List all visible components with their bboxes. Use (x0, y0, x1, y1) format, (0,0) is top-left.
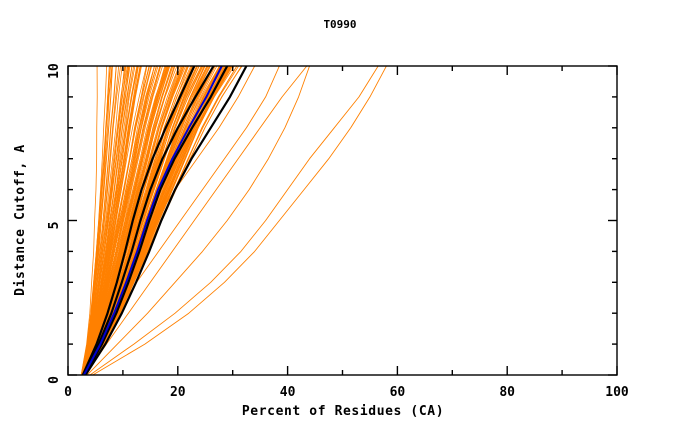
y-tick-label: 0 (47, 376, 62, 384)
x-tick-label: 60 (390, 385, 406, 400)
x-tick-label: 20 (170, 385, 186, 400)
y-tick-label: 10 (47, 63, 62, 79)
x-axis-label: Percent of Residues (CA) (242, 404, 444, 419)
y-axis-label: Distance Cutoff, A (13, 144, 28, 296)
x-tick-label: 40 (280, 385, 296, 400)
x-tick-label: 100 (605, 385, 629, 400)
x-tick-label: 80 (499, 385, 515, 400)
chart-container: T0990 Distance Cutoff, A Percent of Resi… (0, 0, 680, 440)
plot-svg: T0990 Distance Cutoff, A Percent of Resi… (0, 0, 680, 440)
y-tick-label: 5 (47, 222, 62, 230)
x-tick-label: 0 (64, 385, 72, 400)
chart-title: T0990 (323, 18, 356, 31)
